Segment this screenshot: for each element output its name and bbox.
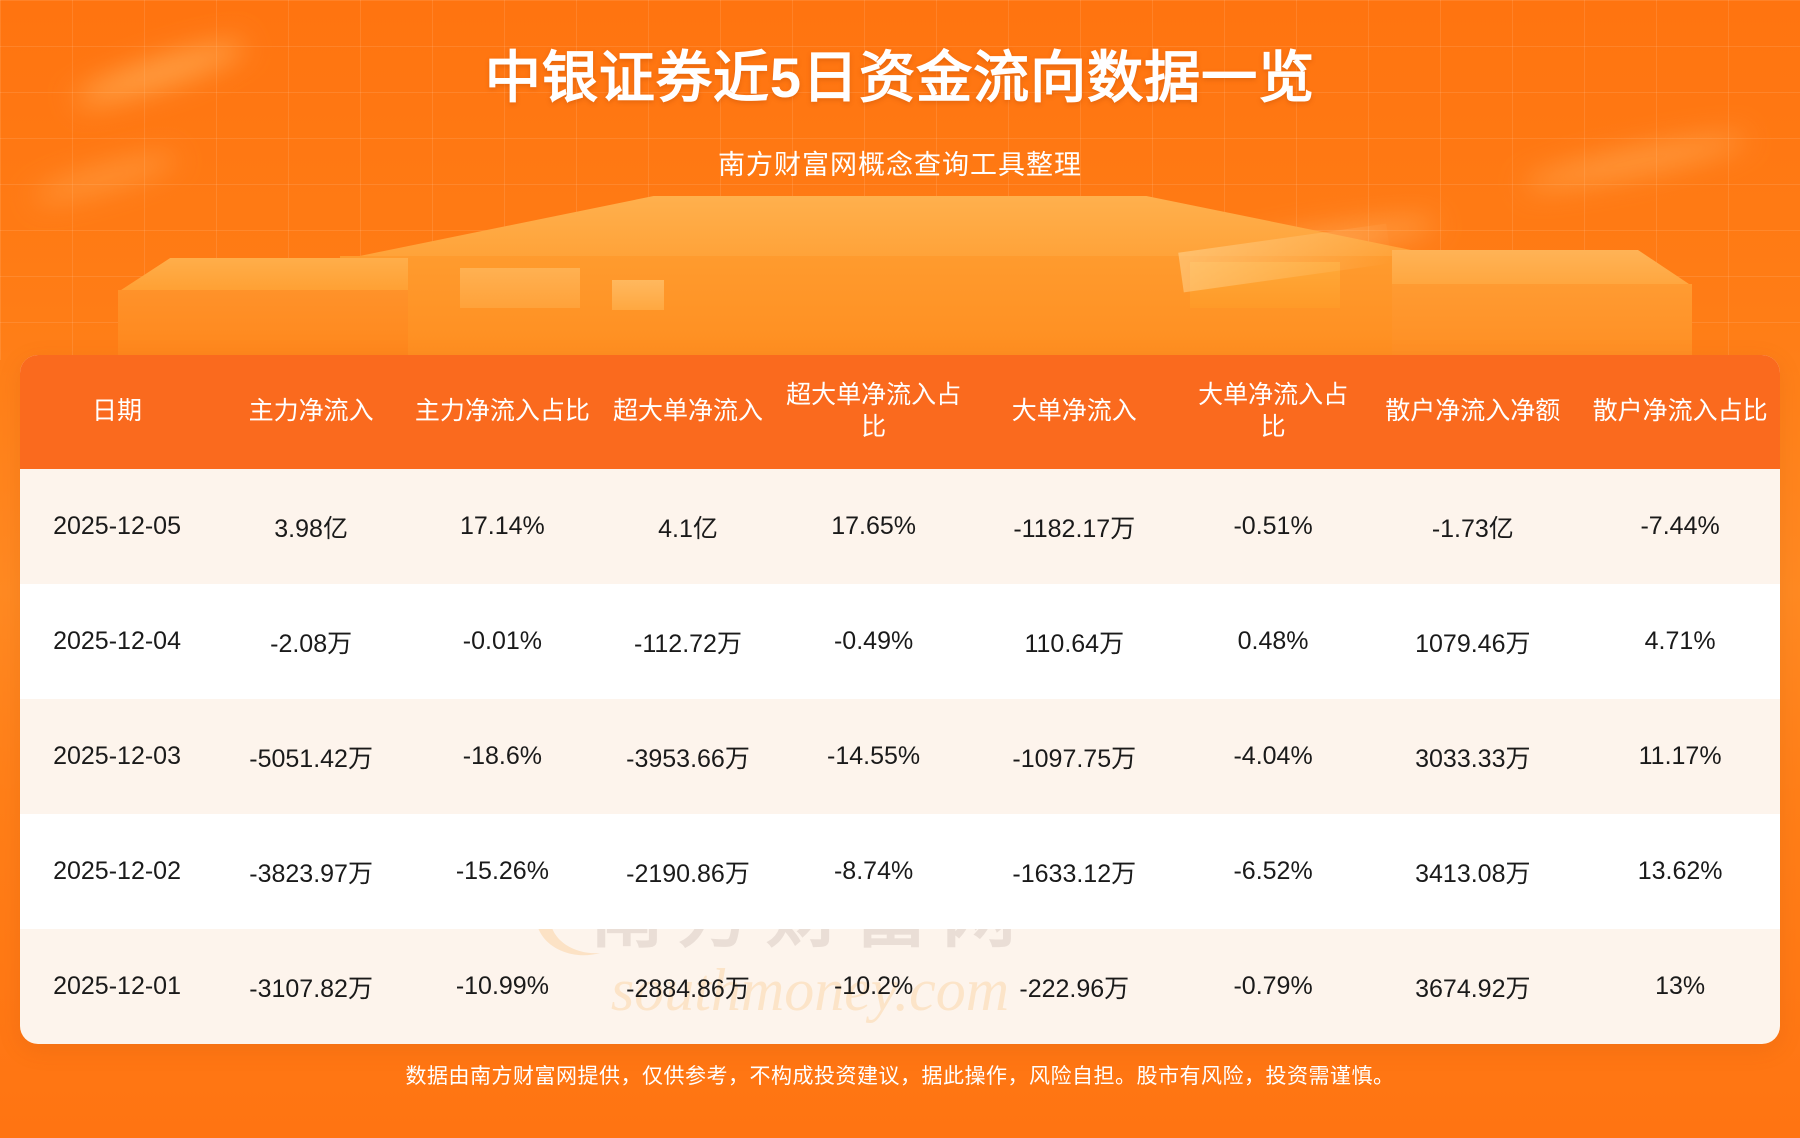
column-header-large-pct: 大单净流入占比 (1181, 355, 1366, 469)
cell-date: 2025-12-05 (20, 469, 214, 584)
table-row: 2025-12-02 -3823.97万 -15.26% -2190.86万 -… (20, 814, 1780, 929)
cell-super-net: -112.72万 (597, 584, 780, 699)
cell-retail-net: 3674.92万 (1365, 929, 1580, 1044)
column-header-large-net: 大单净流入 (968, 355, 1181, 469)
cell-super-pct: -10.2% (779, 929, 967, 1044)
cell-large-pct: 0.48% (1181, 584, 1366, 699)
cell-main-net: 3.98亿 (214, 469, 408, 584)
cell-date: 2025-12-01 (20, 929, 214, 1044)
table-body: 2025-12-05 3.98亿 17.14% 4.1亿 17.65% -118… (20, 469, 1780, 1044)
cell-large-pct: -6.52% (1181, 814, 1366, 929)
cell-super-pct: -8.74% (779, 814, 967, 929)
cell-main-pct: -0.01% (408, 584, 596, 699)
podium-block (340, 256, 1460, 366)
cell-super-net: -2884.86万 (597, 929, 780, 1044)
data-table-card: 南方财富网 southmoney.com 日期 主力净流入 主力净流入占比 超大… (20, 355, 1780, 1044)
cell-super-net: -3953.66万 (597, 699, 780, 814)
cell-large-pct: -0.51% (1181, 469, 1366, 584)
cell-large-net: -1633.12万 (968, 814, 1181, 929)
cell-retail-net: 1079.46万 (1365, 584, 1580, 699)
cell-retail-pct: 11.17% (1580, 699, 1780, 814)
podium-highlight (1178, 224, 1392, 293)
table-row: 2025-12-04 -2.08万 -0.01% -112.72万 -0.49%… (20, 584, 1780, 699)
cell-main-pct: -15.26% (408, 814, 596, 929)
column-header-super-net: 超大单净流入 (597, 355, 780, 469)
page-root: 中银证券近5日资金流向数据一览 南方财富网概念查询工具整理 南方财富网 sout… (0, 0, 1800, 1138)
cell-large-net: 110.64万 (968, 584, 1181, 699)
cell-retail-net: -1.73亿 (1365, 469, 1580, 584)
cell-super-net: 4.1亿 (597, 469, 780, 584)
cell-large-pct: -0.79% (1181, 929, 1366, 1044)
cell-super-pct: 17.65% (779, 469, 967, 584)
podium-block (460, 268, 580, 308)
cell-super-pct: -0.49% (779, 584, 967, 699)
page-subtitle: 南方财富网概念查询工具整理 (0, 143, 1800, 182)
cell-super-net: -2190.86万 (597, 814, 780, 929)
cell-super-pct: -14.55% (779, 699, 967, 814)
cell-main-pct: -18.6% (408, 699, 596, 814)
table-header: 日期 主力净流入 主力净流入占比 超大单净流入 超大单净流入占比 大单净流入 大… (20, 355, 1780, 469)
cell-date: 2025-12-04 (20, 584, 214, 699)
column-header-date: 日期 (20, 355, 214, 469)
column-header-main-pct: 主力净流入占比 (408, 355, 596, 469)
cell-date: 2025-12-02 (20, 814, 214, 929)
cell-main-net: -5051.42万 (214, 699, 408, 814)
cell-large-net: -1182.17万 (968, 469, 1181, 584)
podium-block (1392, 250, 1692, 286)
page-title: 中银证券近5日资金流向数据一览 (0, 44, 1800, 111)
table-row: 2025-12-05 3.98亿 17.14% 4.1亿 17.65% -118… (20, 469, 1780, 584)
disclaimer-text: 数据由南方财富网提供，仅供参考，不构成投资建议，据此操作，风险自担。股市有风险，… (0, 1060, 1800, 1090)
cell-retail-net: 3413.08万 (1365, 814, 1580, 929)
podium-block (118, 258, 408, 292)
table-row: 2025-12-03 -5051.42万 -18.6% -3953.66万 -1… (20, 699, 1780, 814)
column-header-super-pct: 超大单净流入占比 (779, 355, 967, 469)
cell-large-pct: -4.04% (1181, 699, 1366, 814)
cell-date: 2025-12-03 (20, 699, 214, 814)
light-streak-icon (1179, 208, 1440, 283)
cell-large-net: -222.96万 (968, 929, 1181, 1044)
column-header-main-net: 主力净流入 (214, 355, 408, 469)
cell-main-net: -3823.97万 (214, 814, 408, 929)
fund-flow-table: 日期 主力净流入 主力净流入占比 超大单净流入 超大单净流入占比 大单净流入 大… (20, 355, 1780, 1044)
cell-retail-pct: 13% (1580, 929, 1780, 1044)
cell-retail-net: 3033.33万 (1365, 699, 1580, 814)
cell-main-pct: 17.14% (408, 469, 596, 584)
table-row: 2025-12-01 -3107.82万 -10.99% -2884.86万 -… (20, 929, 1780, 1044)
cell-large-net: -1097.75万 (968, 699, 1181, 814)
cell-main-net: -3107.82万 (214, 929, 408, 1044)
cell-retail-pct: -7.44% (1580, 469, 1780, 584)
column-header-retail-net: 散户净流入净额 (1365, 355, 1580, 469)
podium-block (1190, 262, 1340, 308)
cell-retail-pct: 13.62% (1580, 814, 1780, 929)
table-header-row: 日期 主力净流入 主力净流入占比 超大单净流入 超大单净流入占比 大单净流入 大… (20, 355, 1780, 469)
podium-block (612, 280, 664, 310)
cell-main-net: -2.08万 (214, 584, 408, 699)
podium-block (340, 196, 1460, 260)
cell-main-pct: -10.99% (408, 929, 596, 1044)
column-header-retail-pct: 散户净流入占比 (1580, 355, 1780, 469)
cell-retail-pct: 4.71% (1580, 584, 1780, 699)
